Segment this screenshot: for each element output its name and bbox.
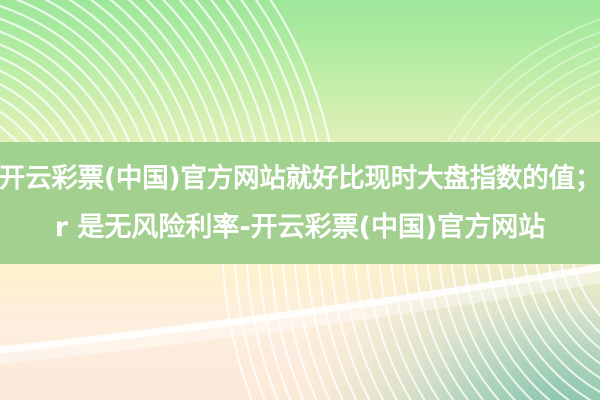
banner-image: 开云彩票(中国)官方网站就好比现时大盘指数的值； r 是无风险利率-开云彩票(中… — [0, 0, 600, 400]
title-line-1: 开云彩票(中国)官方网站就好比现时大盘指数的值； — [0, 154, 600, 203]
title-band: 开云彩票(中国)官方网站就好比现时大盘指数的值； r 是无风险利率-开云彩票(中… — [0, 142, 600, 264]
teal-accent-wash — [310, 240, 600, 400]
title-line-2: r 是无风险利率-开云彩票(中国)官方网站 — [55, 203, 546, 252]
